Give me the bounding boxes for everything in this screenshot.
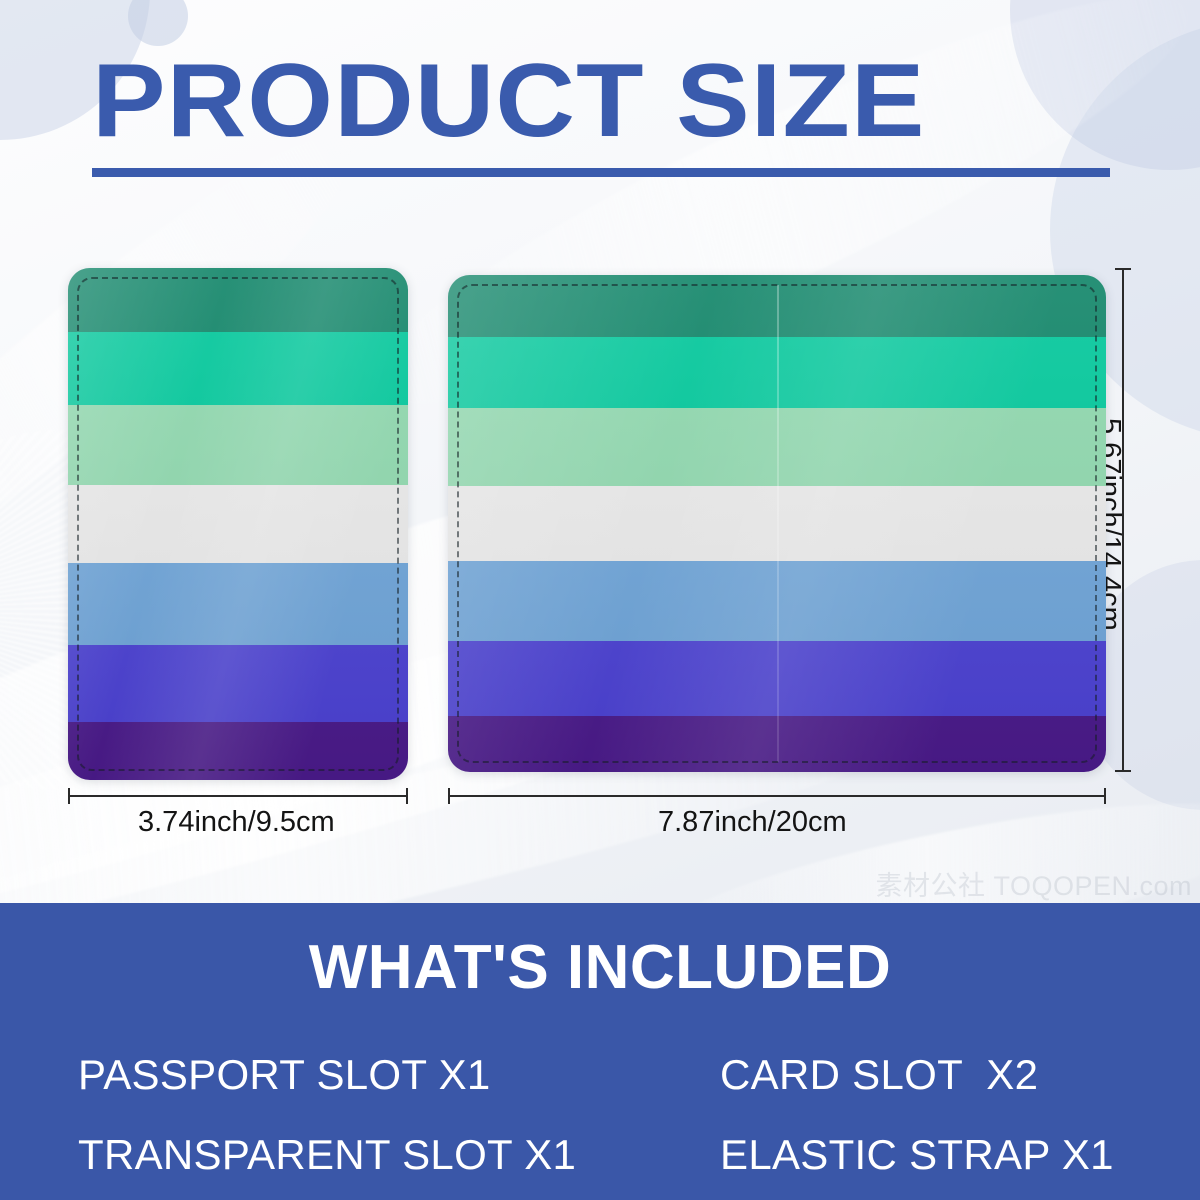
- flag-stripe-white: [448, 486, 1106, 562]
- dimension-label-open-width: 7.87inch/20cm: [658, 806, 847, 839]
- flag-stripe-indigo-blue: [68, 645, 408, 722]
- flag-stripe-mint-green: [448, 408, 1106, 486]
- whats-included-heading: WHAT'S INCLUDED: [0, 903, 1200, 999]
- product-front-cover: [68, 268, 408, 780]
- watermark: 素材公社 TOQOPEN.com: [875, 864, 1192, 903]
- page-title: PRODUCT SIZE: [92, 52, 1173, 152]
- included-item-passport-slot: PASSPORT SLOT X1: [78, 1051, 678, 1099]
- flag-stripe-deep-purple: [448, 716, 1106, 772]
- product-open-cover: [448, 275, 1106, 772]
- whats-included-list: PASSPORT SLOT X1 CARD SLOT X2 TRANSPAREN…: [78, 1035, 1138, 1195]
- flag-stripe-indigo-blue: [448, 641, 1106, 716]
- dimension-label-front-width: 3.74inch/9.5cm: [138, 806, 335, 839]
- flag-stripe-deep-purple: [68, 722, 408, 780]
- included-item-card-slot: CARD SLOT X2: [678, 1051, 1138, 1099]
- dimension-line-front-width: [68, 795, 408, 797]
- open-cover-stripes: [448, 275, 1106, 772]
- flag-stripe-light-blue: [68, 563, 408, 645]
- flag-stripe-dark-teal: [68, 268, 408, 332]
- product-size-infographic: PRODUCT SIZE 3.74inch/9.5cm 7.87inch/20c…: [0, 0, 1200, 1200]
- title-underline-rule: [92, 168, 1110, 177]
- front-cover-stripes: [68, 268, 408, 780]
- flag-stripe-dark-teal: [448, 275, 1106, 337]
- included-item-transparent-slot: TRANSPARENT SLOT X1: [78, 1131, 678, 1179]
- dimension-line-open-width: [448, 795, 1106, 797]
- flag-stripe-bright-teal: [68, 332, 408, 405]
- flag-stripe-light-blue: [448, 561, 1106, 641]
- flag-stripe-bright-teal: [448, 337, 1106, 408]
- flag-stripe-mint-green: [68, 405, 408, 485]
- header: PRODUCT SIZE: [92, 52, 1112, 177]
- flag-stripe-white: [68, 485, 408, 563]
- whats-included-panel: WHAT'S INCLUDED PASSPORT SLOT X1 CARD SL…: [0, 903, 1200, 1200]
- included-item-elastic-strap: ELASTIC STRAP X1: [678, 1131, 1138, 1179]
